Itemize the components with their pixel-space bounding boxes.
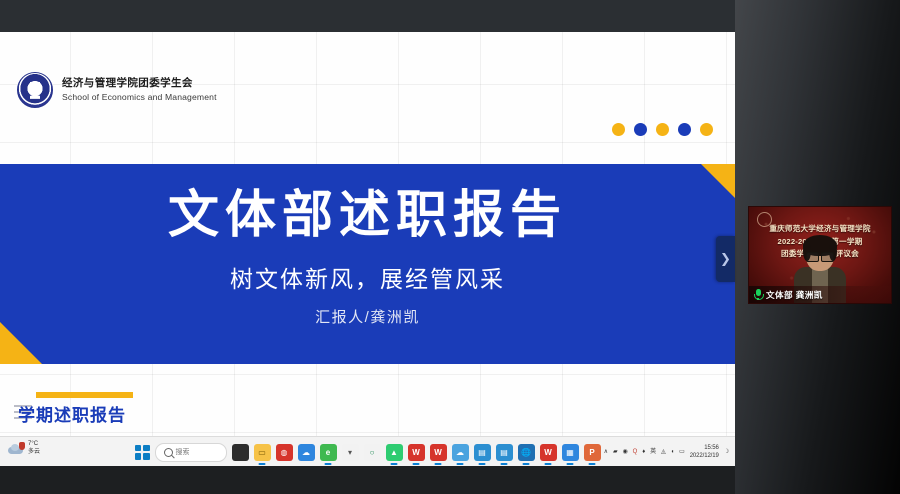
file-explorer-icon[interactable]: ▭ (254, 444, 271, 461)
picture-viewer-icon[interactable]: ▦ (562, 444, 579, 461)
organization-name-cn: 经济与管理学院团委学生会 (62, 77, 217, 90)
search-input[interactable]: 搜索 (155, 443, 227, 462)
taskview-icon[interactable] (232, 444, 249, 461)
notes-icon-2[interactable]: ▤ (496, 444, 513, 461)
slide-header: 经济与管理学院团委学生会 School of Economics and Man… (0, 70, 735, 122)
organization-name-en: School of Economics and Management (62, 92, 217, 104)
footer-label: 学期述职报告 (18, 401, 126, 426)
clock-widget[interactable]: 15:56 2022/12/19 (690, 444, 719, 460)
chevron-right-icon: ❯ (720, 251, 731, 267)
banner-line-1: 重庆师范大学经济与管理学院 (749, 223, 891, 236)
network-icon[interactable]: ▰ (613, 448, 618, 456)
wps-writer-icon-2[interactable]: W (430, 444, 447, 461)
organization-logo: 经济与管理学院团委学生会 School of Economics and Man… (17, 72, 217, 108)
participant-name: 文体部 龚洲凯 (766, 289, 823, 301)
battery-icon[interactable]: ▭ (679, 448, 685, 456)
microphone-tray-icon[interactable]: ♦ (642, 448, 645, 456)
title-band: 文体部述职报告 树文体新风，展经管风采 汇报人/龚洲凯 (0, 164, 735, 364)
globe-icon[interactable]: 🌐 (518, 444, 535, 461)
decorative-dots (612, 123, 713, 136)
windows-taskbar[interactable]: 7°C 多云 搜索 ▭ ◍ ☁ e ▾ ○ ▲ W W (0, 436, 735, 467)
wechat-icon[interactable]: ▾ (342, 444, 359, 461)
ime-icon[interactable]: 英 (650, 448, 656, 456)
dot-4 (678, 123, 691, 136)
system-tray[interactable]: ∧ ▰ ◉ Q ♦ 英 ◬ ◖ ▭ 15:56 2022/12/19 ☽ (604, 437, 729, 467)
shield-icon[interactable]: ◉ (622, 448, 627, 456)
desktop-bottom-edge (0, 466, 735, 494)
search-icon (164, 448, 173, 457)
cloud-sync-icon[interactable]: ☁ (452, 444, 469, 461)
screen: 经济与管理学院团委学生会 School of Economics and Man… (0, 0, 900, 494)
wps-presentation-icon[interactable]: W (540, 444, 557, 461)
participant-video-tile[interactable]: 重庆师范大学经济与管理学院 2022-2023学年第一学期 团委学生会述职评议会… (748, 206, 892, 304)
participant-name-label: 文体部 龚洲凯 (749, 286, 891, 303)
footer-accent-bar (36, 392, 133, 398)
wifi-icon[interactable]: ◬ (661, 448, 666, 456)
dot-2 (634, 123, 647, 136)
dot-3 (656, 123, 669, 136)
dot-1 (612, 123, 625, 136)
search-placeholder: 搜索 (176, 447, 190, 457)
powerpoint-icon[interactable]: P (584, 444, 601, 461)
university-crest-icon (17, 72, 53, 108)
slide-footer: 学期述职报告 (0, 404, 260, 436)
window-title-bar (0, 0, 735, 32)
clock-date: 2022/12/19 (690, 452, 719, 460)
microphone-icon (754, 289, 762, 300)
eyeglasses-icon (806, 252, 834, 260)
panel-collapse-button[interactable]: ❯ (716, 236, 735, 282)
qq-icon[interactable]: Q (633, 448, 638, 456)
shared-screen-area: 经济与管理学院团委学生会 School of Economics and Man… (0, 0, 735, 494)
browser-edge-icon[interactable]: e (320, 444, 337, 461)
wps-writer-icon[interactable]: W (408, 444, 425, 461)
cloud-drive-icon[interactable]: ☁ (298, 444, 315, 461)
notification-bell-icon[interactable]: ☽ (724, 448, 729, 456)
slide-presenter: 汇报人/龚洲凯 (0, 306, 735, 327)
presentation-slide[interactable]: 经济与管理学院团委学生会 School of Economics and Man… (0, 32, 735, 436)
tray-show-hidden-icons-icon[interactable]: ∧ (604, 448, 608, 456)
clock-time: 15:56 (690, 444, 719, 452)
slide-title: 文体部述职报告 (0, 190, 735, 241)
accent-triangle-bottom-left (0, 322, 42, 364)
wps-office-icon[interactable]: ◍ (276, 444, 293, 461)
search-app-icon[interactable]: ○ (364, 444, 381, 461)
slide-subtitle: 树文体新风，展经管风采 (0, 260, 735, 294)
dot-5 (700, 123, 713, 136)
tencent-meeting-icon[interactable]: ▲ (386, 444, 403, 461)
volume-icon[interactable]: ◖ (671, 448, 675, 456)
notes-icon[interactable]: ▤ (474, 444, 491, 461)
windows-start-icon[interactable] (135, 445, 150, 460)
